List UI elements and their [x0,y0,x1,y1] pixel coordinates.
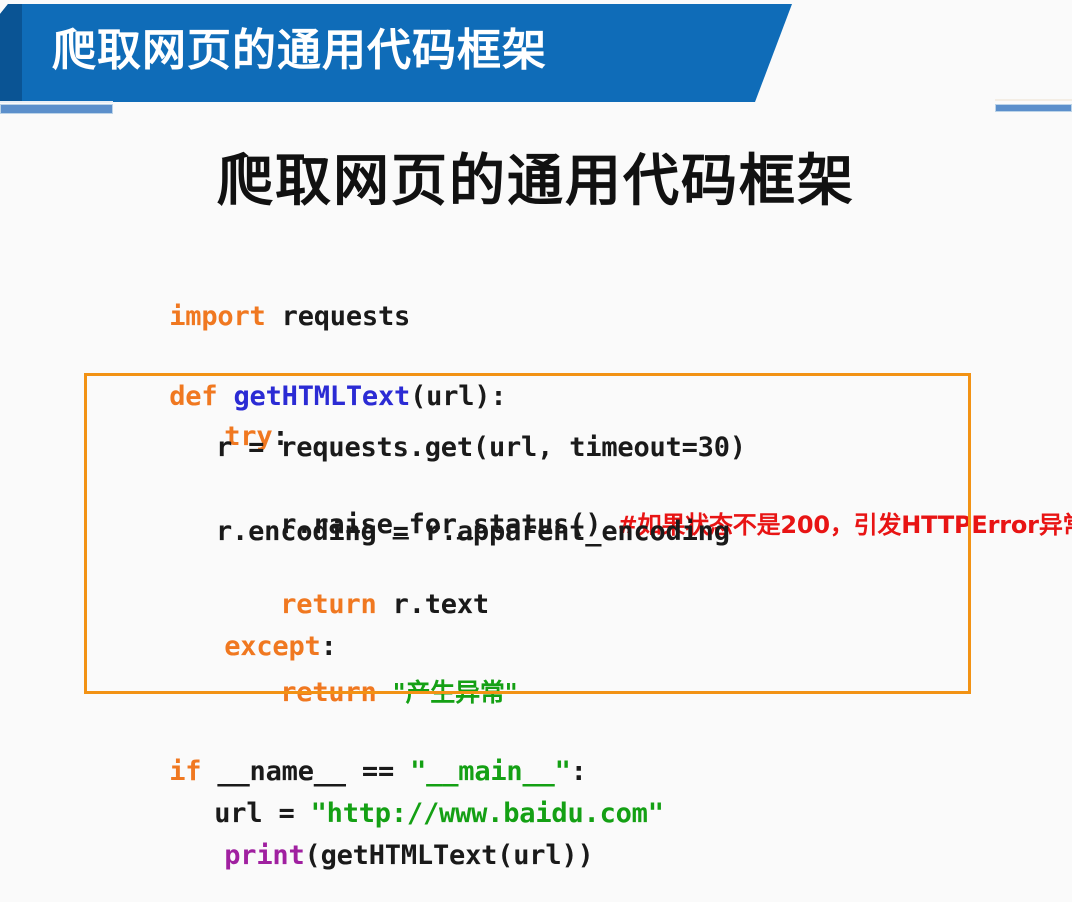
slide-header: 爬取网页的通用代码框架 [0,0,1072,104]
code-line-encoding: r.encoding = r.apparent_encoding [216,516,730,547]
header-banner-title: 爬取网页的通用代码框架 [52,14,547,78]
header-underline-left [0,101,113,103]
header-banner-left-accent [0,4,22,102]
token-builtin-print: print [224,840,304,871]
token-keyword-return-2: return [280,677,376,708]
page-title: 爬取网页的通用代码框架 [0,136,1072,217]
code-block: import requests def getHTMLText(url): tr… [0,250,1072,870]
header-underline-right [995,99,1072,101]
token-module-requests: requests [266,301,411,332]
token-keyword-import: import [169,301,265,332]
token-params: (url): [410,381,506,412]
code-line-requests-get: r = requests.get(url, timeout=30) [216,432,746,463]
token-space-2 [377,677,393,708]
header-accent-bar-right [995,104,1072,112]
token-string-exception: "产生异常" [393,678,518,707]
token-print-args: (getHTMLText(url)) [305,840,594,871]
token-r-text: r.text [377,589,489,620]
code-line-print: print(getHTMLText(url)) [160,809,594,902]
header-accent-bar-left [0,104,113,114]
